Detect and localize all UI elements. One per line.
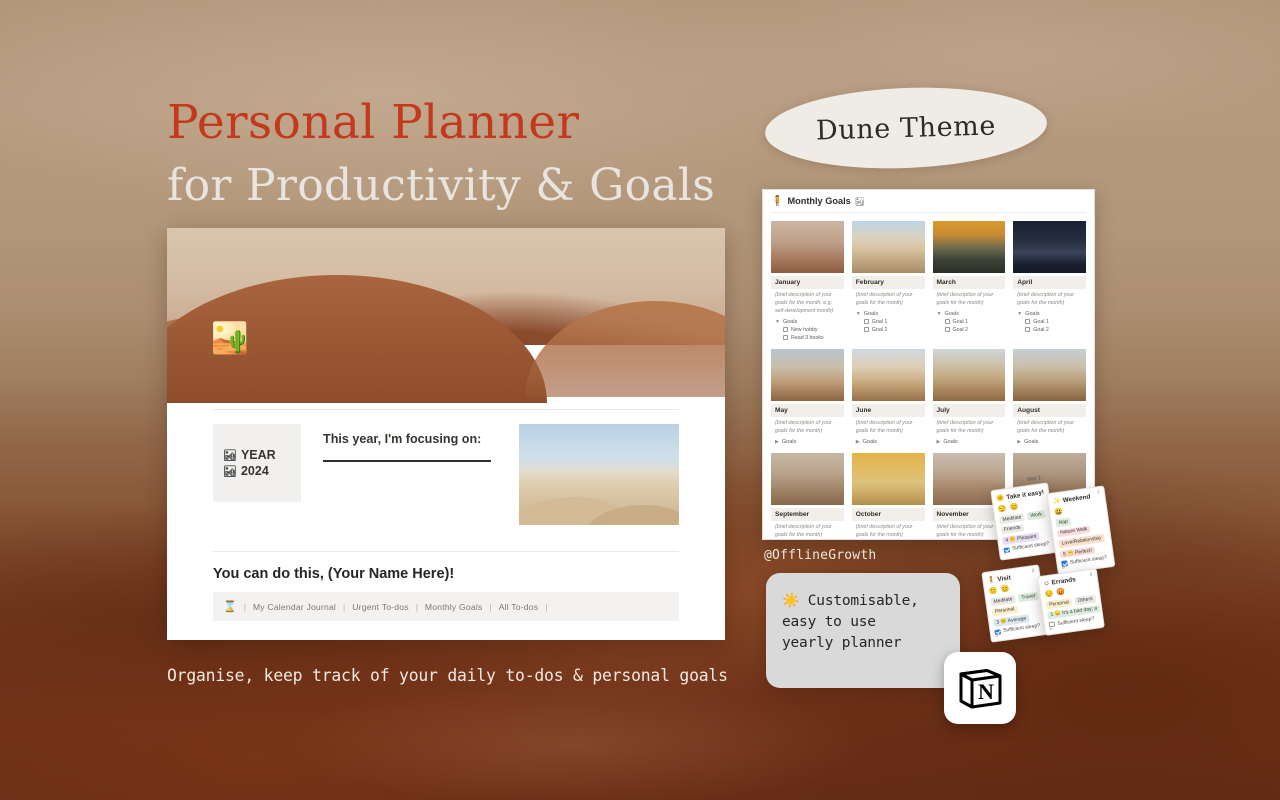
goal-checkbox-row[interactable]: Goal 2 — [933, 325, 1006, 333]
month-name: March — [933, 276, 1006, 289]
month-thumbnail — [852, 349, 925, 401]
goal-label: Goal 2 — [872, 327, 888, 333]
goal-label: Read 3 books — [791, 335, 824, 341]
goal-checkbox-row[interactable]: Goal 1 — [1013, 317, 1086, 325]
divider-2 — [213, 551, 679, 552]
card-footer-number: 9 — [1062, 565, 1066, 571]
notion-logo-icon: N — [955, 663, 1005, 713]
goals-toggle[interactable]: ▶Goals — [852, 436, 925, 445]
dune-decoration-icon: 🏜 — [855, 197, 865, 206]
month-card-february[interactable]: February(brief description of your goals… — [852, 221, 925, 341]
goals-toggle[interactable]: ▼Goals — [933, 308, 1006, 317]
card-footer-number: 5 — [1049, 626, 1053, 632]
month-thumbnail — [1013, 349, 1086, 401]
chevron-down-icon[interactable]: ▼ — [775, 319, 780, 325]
focus-column: This year, I'm focusing on: — [323, 424, 497, 462]
month-thumbnail — [1013, 221, 1086, 273]
checkbox-icon[interactable] — [1025, 327, 1030, 332]
month-thumbnail — [933, 349, 1006, 401]
monthly-goals-title: Monthly Goals — [787, 196, 850, 206]
card-tag[interactable]: Meditate — [999, 513, 1025, 524]
focus-input-line[interactable] — [323, 460, 491, 462]
nav-link-monthly-goals[interactable]: Monthly Goals — [425, 602, 483, 612]
goal-label: Goal 1 — [872, 319, 888, 325]
mood-emoji-icon: 😊 — [1000, 585, 1010, 594]
month-name: February — [852, 276, 925, 289]
month-description: (brief description of your goals for the… — [771, 521, 844, 540]
card-title: Visit — [997, 574, 1011, 583]
card-title-icon: 🧍 — [987, 576, 996, 585]
goals-toggle[interactable]: ▶Goals — [771, 436, 844, 445]
page-top-row: 🏜 YEAR 🏜 2024 This year, I'm focusing on… — [213, 424, 679, 525]
checkbox-icon[interactable] — [864, 319, 869, 324]
notion-planner-page[interactable]: 🏜️ | Planner: Productivity & Personal Go… — [167, 228, 725, 640]
card-title-icon: 🌞 — [996, 494, 1005, 503]
mood-emoji-icon: 😡 — [1056, 588, 1066, 597]
month-description: (brief description of your goals for the… — [933, 289, 1006, 308]
encouragement-text: You can do this, (Your Name Here)! — [213, 566, 679, 582]
card-corner-number: 8 — [1031, 568, 1035, 574]
dune-theme-badge-label: Dune Theme — [816, 110, 997, 146]
chevron-down-icon[interactable]: ▼ — [937, 311, 942, 317]
chevron-right-icon[interactable]: ▶ — [937, 439, 941, 445]
month-thumbnail — [771, 453, 844, 505]
month-description: (brief description of your goals for the… — [852, 521, 925, 540]
journal-card[interactable]: 9☺Errands😔😡PersonalOthers1 😞 It's a bad … — [1037, 568, 1105, 635]
goals-toggle-label: Goals — [1024, 439, 1038, 445]
cover-dune-right — [525, 301, 725, 397]
month-card-april[interactable]: April(brief description of your goals fo… — [1013, 221, 1086, 341]
dune-glyph-icon: 🏜 — [223, 449, 237, 462]
year-block: 🏜 YEAR 🏜 2024 — [213, 424, 301, 502]
callout-line-1: ☀️ Customisable, — [782, 591, 944, 612]
card-footer-number: 7 — [1004, 551, 1008, 557]
card-tag[interactable]: Travel — [1018, 592, 1039, 602]
hourglass-icon: ⌛ — [223, 600, 237, 613]
goals-toggle-label: Goals — [944, 311, 958, 317]
card-tag[interactable]: Personal — [1046, 598, 1073, 609]
checkbox-icon[interactable] — [945, 327, 950, 332]
nav-separator-3: | — [489, 602, 491, 612]
goal-checkbox-row[interactable]: Goal 1 — [933, 317, 1006, 325]
nav-link-all-todos[interactable]: All To-dos — [499, 602, 539, 612]
month-description: (brief description of your goals for the… — [1013, 417, 1086, 436]
chevron-right-icon[interactable]: ▶ — [1017, 439, 1021, 445]
nav-separator-2: | — [416, 602, 418, 612]
month-thumbnail — [771, 221, 844, 273]
headline-line-2: for Productivity & Goals — [167, 163, 787, 209]
nav-link-urgent-todos[interactable]: Urgent To-dos — [352, 602, 408, 612]
card-tag[interactable]: Meditate — [990, 595, 1016, 606]
card-tag-row: NapNature WalkLove/Relationship5 😁 Perfe… — [1055, 513, 1108, 559]
mood-emoji-icon: 😊 — [1009, 503, 1019, 512]
month-card-september[interactable]: September(brief description of your goal… — [771, 453, 844, 540]
chevron-down-icon[interactable]: ▼ — [856, 311, 861, 317]
month-thumbnail — [852, 221, 925, 273]
nav-separator-0: | — [244, 602, 246, 612]
goals-toggle-label: Goals — [1025, 311, 1039, 317]
card-tag-row: MeditateTravelPersonal3 😐 Average — [990, 592, 1042, 627]
checkbox-icon[interactable] — [945, 319, 950, 324]
card-tag[interactable]: Personal — [992, 605, 1019, 616]
year-value: 2024 — [241, 464, 269, 478]
month-description: (brief description of your goals for the… — [852, 417, 925, 436]
goal-label: Goal 1 — [953, 319, 969, 325]
mood-emoji-icon: 😔 — [1044, 589, 1054, 598]
goals-toggle[interactable]: ▶Goals — [1013, 436, 1086, 445]
nav-separator-1: | — [343, 602, 345, 612]
month-name: August — [1013, 404, 1086, 417]
page-cover-image — [167, 228, 725, 345]
goals-toggle-label: Goals — [864, 311, 878, 317]
goals-toggle-label: Goals — [863, 439, 877, 445]
checkbox-icon[interactable] — [1025, 319, 1030, 324]
month-card-july[interactable]: July(brief description of your goals for… — [933, 349, 1006, 445]
page-nav-bar[interactable]: ⌛ | My Calendar Journal | Urgent To-dos … — [213, 592, 679, 621]
month-card-october[interactable]: October(brief description of your goals … — [852, 453, 925, 540]
divider — [213, 409, 679, 410]
month-description: (brief description of your goals for the… — [852, 289, 925, 308]
goal-checkbox-row[interactable]: Read 3 books — [771, 333, 844, 341]
card-corner-number: 9 — [1089, 572, 1093, 578]
month-name: January — [771, 276, 844, 289]
goal-checkbox-row[interactable]: Goal 2 — [852, 325, 925, 333]
callout-text-3: yearly planner — [782, 633, 944, 654]
checkbox-icon[interactable] — [783, 335, 788, 340]
chevron-down-icon[interactable]: ▼ — [1017, 311, 1022, 317]
dune-theme-badge: Dune Theme — [764, 83, 1049, 174]
card-title: Weekend — [1062, 493, 1091, 504]
monthly-goals-header: 🧍 Monthly Goals 🏜 — [763, 190, 1094, 212]
goals-toggle-label: Goals — [783, 319, 797, 325]
card-tag[interactable]: Nap — [1055, 517, 1071, 527]
card-corner-number: 2 — [1097, 489, 1101, 495]
bottom-tagline: Organise, keep track of your daily to-do… — [167, 666, 867, 685]
month-name: October — [852, 508, 925, 521]
nav-link-my-calendar-journal[interactable]: My Calendar Journal — [253, 602, 336, 612]
checkbox-icon[interactable] — [864, 327, 869, 332]
card-title-icon: ☺ — [1043, 580, 1050, 588]
card-footer-number: 8 — [995, 633, 999, 639]
year-line-label: 🏜 YEAR — [223, 448, 301, 462]
goal-label: Goal 2 — [953, 327, 969, 333]
callout-text-1: Customisable, — [808, 593, 919, 609]
month-name: June — [852, 404, 925, 417]
month-name: July — [933, 404, 1006, 417]
headline: Personal Planner for Productivity & Goal… — [167, 98, 787, 210]
month-description: (brief description of your goals for the… — [771, 289, 844, 316]
mood-emoji-icon: 😌 — [998, 504, 1008, 513]
goals-toggle-label: Goals — [943, 439, 957, 445]
focus-label: This year, I'm focusing on: — [323, 432, 497, 446]
chevron-right-icon[interactable]: ▶ — [856, 439, 860, 445]
goals-toggle[interactable]: ▶Goals — [933, 436, 1006, 445]
month-card-august[interactable]: August(brief description of your goals f… — [1013, 349, 1086, 445]
year-line-value: 🏜 2024 — [223, 464, 301, 478]
month-name: May — [771, 404, 844, 417]
month-description: (brief description of your goals for the… — [933, 417, 1006, 436]
mood-emoji-icon: 😃 — [1054, 507, 1064, 516]
chevron-right-icon[interactable]: ▶ — [775, 439, 779, 445]
month-card-may[interactable]: May(brief description of your goals for … — [771, 349, 844, 445]
card-tag[interactable]: Work — [1027, 510, 1045, 520]
dune-glyph-icon-2: 🏜 — [223, 465, 237, 478]
card-title: Errands — [1051, 576, 1076, 586]
mood-emoji-icon: 🙂 — [989, 586, 999, 595]
month-card-june[interactable]: June(brief description of your goals for… — [852, 349, 925, 445]
person-icon: 🧍 — [771, 196, 783, 207]
year-label: YEAR — [241, 448, 276, 462]
goal-checkbox-row[interactable]: Goal 2 — [1013, 325, 1086, 333]
desert-page-icon[interactable]: 🏜️ — [211, 324, 248, 354]
goals-toggle[interactable]: ▼Goals — [852, 308, 925, 317]
goals-toggle[interactable]: ▼Goals — [1013, 308, 1086, 317]
card-tag[interactable]: Friends — [1001, 524, 1025, 535]
month-thumbnail — [933, 221, 1006, 273]
month-thumbnail — [852, 453, 925, 505]
nav-separator-4: | — [545, 602, 547, 612]
month-description: (brief description of your goals for the… — [771, 417, 844, 436]
month-name: September — [771, 508, 844, 521]
desert-photo-block — [519, 424, 679, 525]
goals-toggle-label: Goals — [782, 439, 796, 445]
month-name: April — [1013, 276, 1086, 289]
goal-label: Goal 1 — [1033, 319, 1049, 325]
checkbox-icon[interactable] — [783, 327, 788, 332]
goal-checkbox-row[interactable]: Goal 1 — [852, 317, 925, 325]
card-tag-row: MeditateWorkFriends4 🙂 Pleasant — [999, 510, 1051, 545]
goal-label: Goal 2 — [1033, 327, 1049, 333]
notion-logo: N — [944, 652, 1016, 724]
goal-checkbox-row[interactable]: New hobby — [771, 325, 844, 333]
month-description: (brief description of your goals for the… — [1013, 289, 1086, 308]
goal-label: New hobby — [791, 327, 818, 333]
journal-card[interactable]: 2✨Weekend😃NapNature WalkLove/Relationshi… — [1047, 485, 1116, 574]
month-thumbnail — [771, 349, 844, 401]
month-card-january[interactable]: January(brief description of your goals … — [771, 221, 844, 341]
goals-toggle[interactable]: ▼Goals — [771, 316, 844, 325]
sun-icon: ☀️ — [782, 593, 799, 609]
svg-text:N: N — [978, 679, 994, 704]
promo-canvas: Personal Planner for Productivity & Goal… — [0, 0, 1280, 800]
card-tag[interactable]: Others — [1074, 595, 1096, 605]
callout-text-2: easy to use — [782, 612, 944, 633]
headline-line-1: Personal Planner — [167, 98, 787, 147]
creator-handle: @OfflineGrowth — [764, 548, 876, 563]
month-card-march[interactable]: March(brief description of your goals fo… — [933, 221, 1006, 341]
card-title-icon: ✨ — [1052, 497, 1061, 506]
